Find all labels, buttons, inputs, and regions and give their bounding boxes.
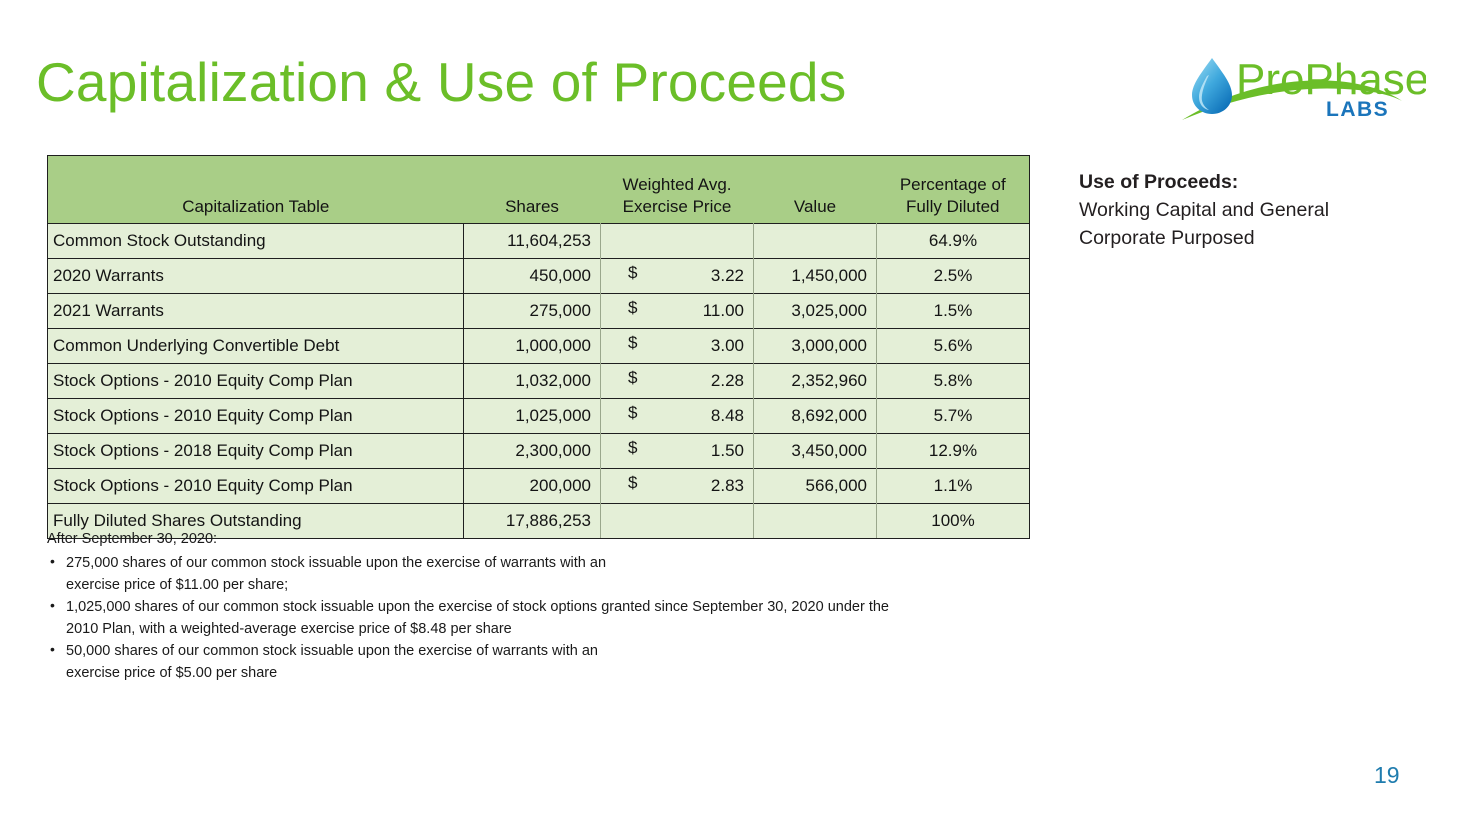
cell-shares: 11,604,253 [464, 224, 601, 259]
footnote-line: 1,025,000 shares of our common stock iss… [66, 596, 1047, 618]
cell-exercise-price [601, 224, 754, 259]
bullet-icon: • [50, 595, 55, 616]
cell-description: Stock Options - 2010 Equity Comp Plan [48, 364, 464, 399]
footnotes-lead: After September 30, 2020: [47, 528, 1047, 550]
cell-percentage: 2.5% [877, 259, 1030, 294]
cell-value: 3,000,000 [754, 329, 877, 364]
cell-value: 1,450,000 [754, 259, 877, 294]
logo-wordmark-prophase: ProPhase [1236, 55, 1426, 104]
use-of-proceeds-body: Working Capital and General Corporate Pu… [1079, 196, 1419, 252]
cell-percentage: 64.9% [877, 224, 1030, 259]
cell-value: 3,450,000 [754, 434, 877, 469]
bullet-icon: • [50, 639, 55, 660]
column-header-weighted-avg-exercise-price: Weighted Avg. Exercise Price [601, 156, 754, 224]
header-line1: Percentage of [885, 174, 1022, 195]
footnote-item: •275,000 shares of our common stock issu… [47, 552, 1047, 596]
table-row: Stock Options - 2018 Equity Comp Plan2,3… [48, 434, 1030, 469]
header-line1: Weighted Avg. [609, 174, 746, 195]
table-row: Common Stock Outstanding11,604,25364.9% [48, 224, 1030, 259]
cell-exercise-price: $11.00 [601, 294, 754, 329]
cell-exercise-price: $3.00 [601, 329, 754, 364]
cell-exercise-price: $1.50 [601, 434, 754, 469]
table-header-row: Capitalization Table Shares Weighted Avg… [48, 156, 1030, 224]
cell-percentage: 5.8% [877, 364, 1030, 399]
currency-symbol: $ [628, 333, 637, 353]
footnote-item: •1,025,000 shares of our common stock is… [47, 596, 1047, 640]
cell-value: 3,025,000 [754, 294, 877, 329]
column-header-value: Value [754, 156, 877, 224]
table-row: 2021 Warrants275,000$11.003,025,0001.5% [48, 294, 1030, 329]
header-line2: Shares [505, 197, 559, 216]
table-row: Stock Options - 2010 Equity Comp Plan200… [48, 469, 1030, 504]
use-of-proceeds-block: Use of Proceeds: Working Capital and Gen… [1079, 168, 1419, 252]
header-line2: Fully Diluted [885, 196, 1022, 217]
cell-description: 2021 Warrants [48, 294, 464, 329]
footnotes-block: After September 30, 2020: •275,000 share… [47, 528, 1047, 684]
column-header-shares: Shares [464, 156, 601, 224]
page-title: Capitalization & Use of Proceeds [36, 52, 846, 113]
cell-exercise-price: $2.28 [601, 364, 754, 399]
currency-symbol: $ [628, 473, 637, 493]
footnote-line: 2010 Plan, with a weighted-average exerc… [66, 618, 1047, 640]
cell-shares: 275,000 [464, 294, 601, 329]
header-line2: Value [794, 197, 836, 216]
header-line2: Exercise Price [609, 196, 746, 217]
capitalization-table: Capitalization Table Shares Weighted Avg… [47, 155, 1030, 539]
cell-value: 2,352,960 [754, 364, 877, 399]
cell-description: Common Underlying Convertible Debt [48, 329, 464, 364]
column-header-capitalization-table: Capitalization Table [48, 156, 464, 224]
bullet-icon: • [50, 551, 55, 572]
header-line2: Capitalization Table [182, 197, 329, 216]
cell-description: Stock Options - 2010 Equity Comp Plan [48, 469, 464, 504]
cell-description: Stock Options - 2018 Equity Comp Plan [48, 434, 464, 469]
table-row: Stock Options - 2010 Equity Comp Plan1,0… [48, 399, 1030, 434]
table-row: 2020 Warrants450,000$3.221,450,0002.5% [48, 259, 1030, 294]
cell-percentage: 5.6% [877, 329, 1030, 364]
column-header-percentage-of-fully-diluted: Percentage of Fully Diluted [877, 156, 1030, 224]
cell-description: 2020 Warrants [48, 259, 464, 294]
footnotes-list: •275,000 shares of our common stock issu… [47, 552, 1047, 684]
use-of-proceeds-heading: Use of Proceeds: [1079, 168, 1419, 196]
cell-exercise-price: $8.48 [601, 399, 754, 434]
currency-symbol: $ [628, 403, 637, 423]
currency-symbol: $ [628, 368, 637, 388]
cell-shares: 200,000 [464, 469, 601, 504]
capitalization-table-container: Capitalization Table Shares Weighted Avg… [47, 155, 1029, 539]
currency-symbol: $ [628, 298, 637, 318]
table-header: Capitalization Table Shares Weighted Avg… [48, 156, 1030, 224]
footnote-line: 50,000 shares of our common stock issuab… [66, 640, 1047, 662]
cell-exercise-price: $3.22 [601, 259, 754, 294]
page-number: 19 [1374, 762, 1400, 789]
logo-wordmark-labs: LABS [1326, 98, 1389, 121]
cell-shares: 1,032,000 [464, 364, 601, 399]
footnote-item: •50,000 shares of our common stock issua… [47, 640, 1047, 684]
cell-value [754, 224, 877, 259]
footnote-line: 275,000 shares of our common stock issua… [66, 552, 1047, 574]
table-body: Common Stock Outstanding11,604,25364.9%2… [48, 224, 1030, 539]
currency-symbol: $ [628, 438, 637, 458]
cell-percentage: 1.5% [877, 294, 1030, 329]
currency-symbol: $ [628, 263, 637, 283]
logo-graphic: ProPhase LABS [1178, 44, 1426, 128]
cell-description: Stock Options - 2010 Equity Comp Plan [48, 399, 464, 434]
cell-shares: 1,000,000 [464, 329, 601, 364]
cell-percentage: 12.9% [877, 434, 1030, 469]
footnote-line: exercise price of $11.00 per share; [66, 574, 1047, 596]
cell-value: 566,000 [754, 469, 877, 504]
table-row: Stock Options - 2010 Equity Comp Plan1,0… [48, 364, 1030, 399]
footnote-line: exercise price of $5.00 per share [66, 662, 1047, 684]
cell-percentage: 1.1% [877, 469, 1030, 504]
table-row: Common Underlying Convertible Debt1,000,… [48, 329, 1030, 364]
cell-shares: 1,025,000 [464, 399, 601, 434]
prophase-labs-logo: ProPhase LABS [1178, 44, 1426, 128]
cell-exercise-price: $2.83 [601, 469, 754, 504]
cell-shares: 450,000 [464, 259, 601, 294]
cell-value: 8,692,000 [754, 399, 877, 434]
cell-description: Common Stock Outstanding [48, 224, 464, 259]
cell-shares: 2,300,000 [464, 434, 601, 469]
cell-percentage: 5.7% [877, 399, 1030, 434]
logo-droplet-icon [1192, 58, 1232, 114]
